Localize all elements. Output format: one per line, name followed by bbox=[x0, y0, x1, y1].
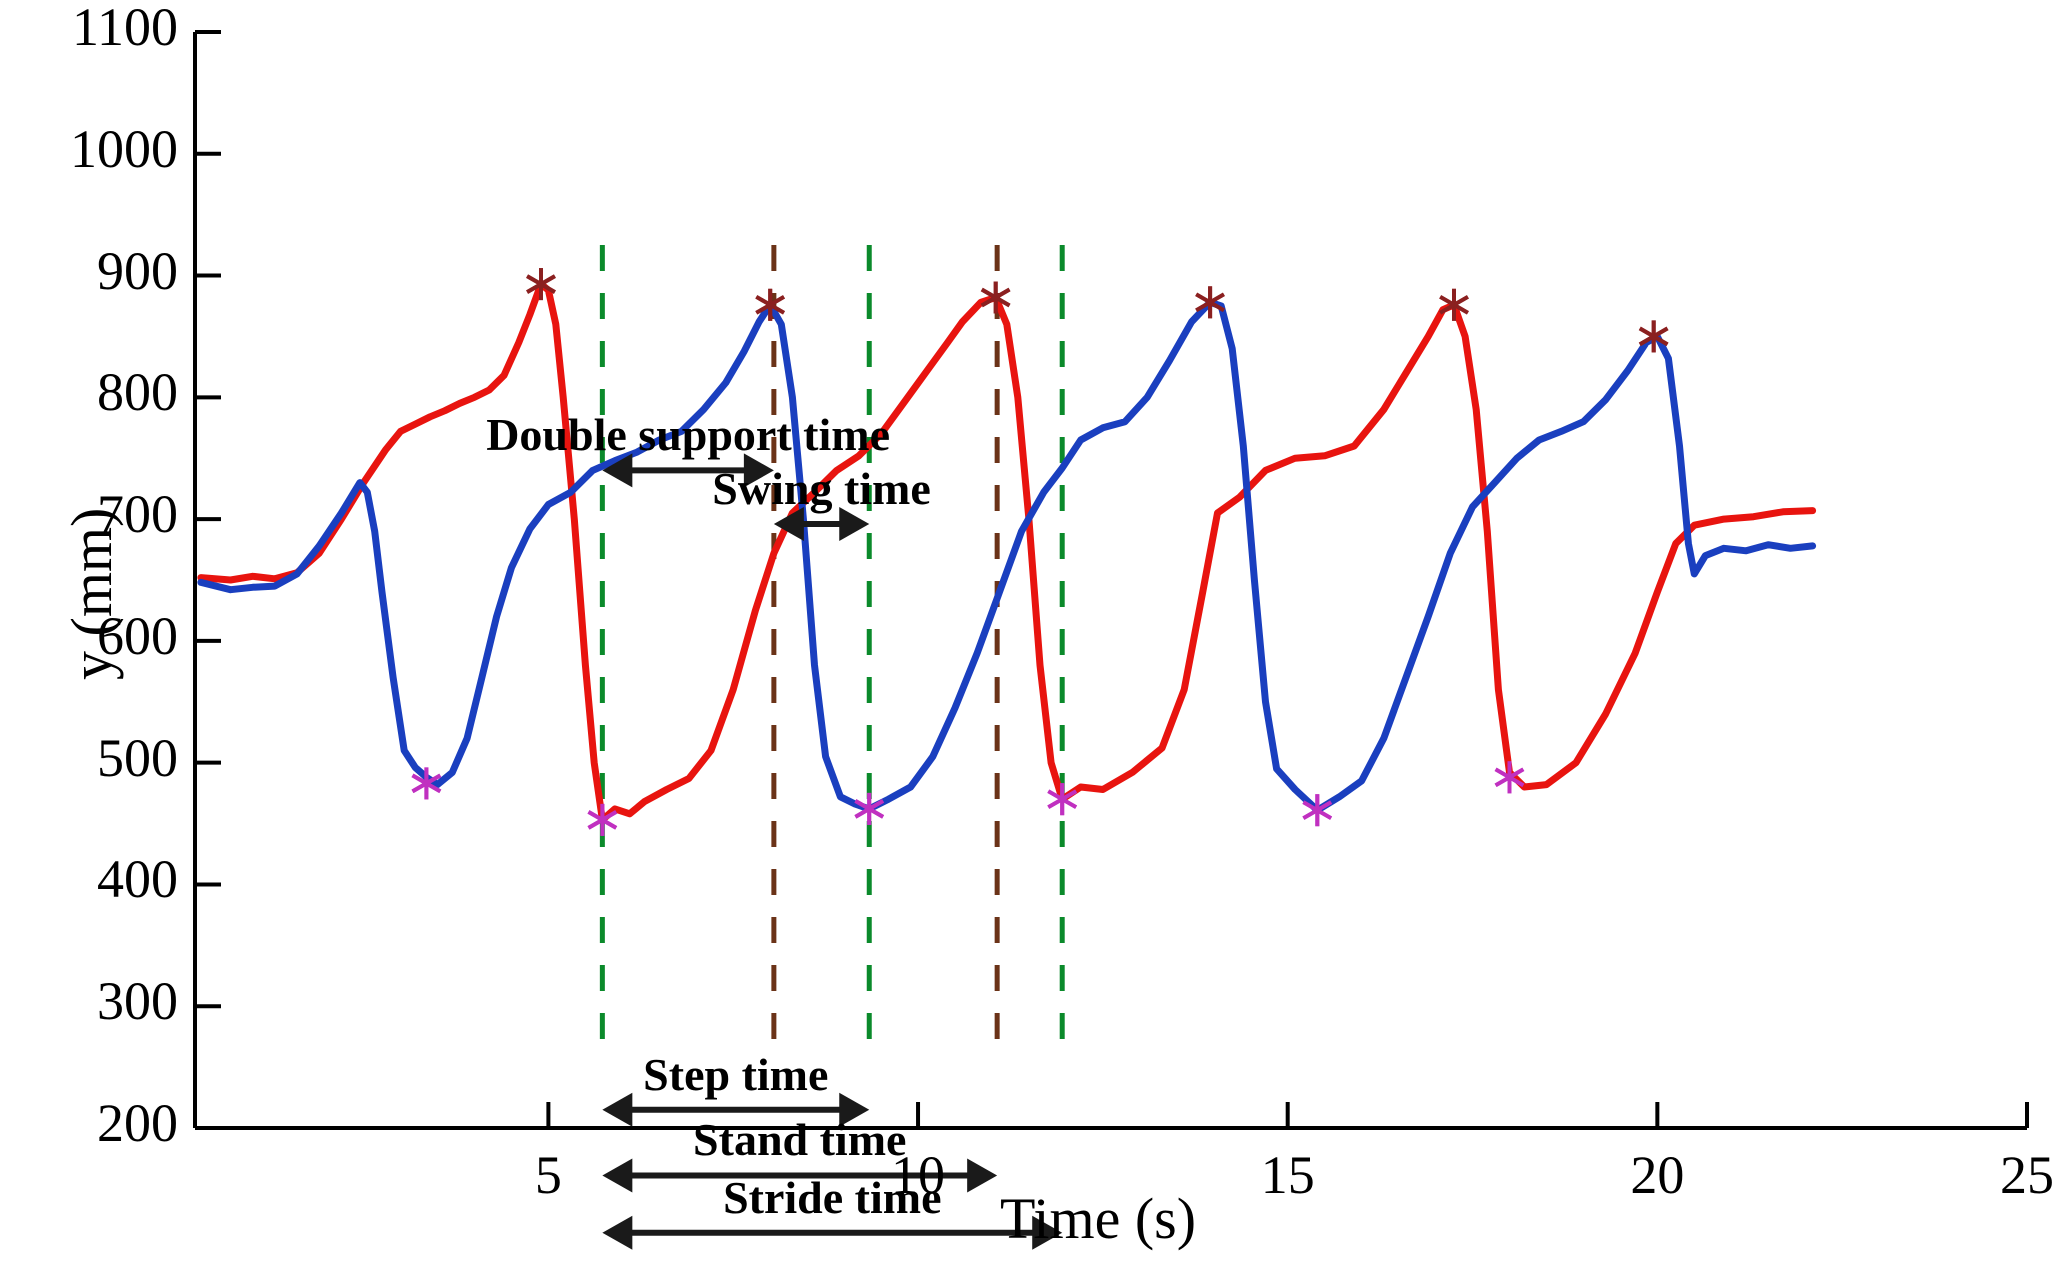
data-series bbox=[201, 284, 1813, 820]
chart-figure: 1100100090080070060050040030020051015202… bbox=[0, 0, 2067, 1270]
y-tick-label: 800 bbox=[0, 361, 178, 423]
x-axis-title: Time (s) bbox=[1000, 1185, 1196, 1252]
x-tick-label: 20 bbox=[1597, 1144, 1717, 1206]
y-tick-label: 1100 bbox=[0, 0, 178, 58]
max-marker bbox=[1440, 289, 1468, 321]
axes bbox=[195, 32, 2027, 1128]
series-left-foot-marker bbox=[201, 302, 1813, 810]
min-marker bbox=[1048, 783, 1076, 815]
annotation-label-step-time: Step time bbox=[436, 1048, 1036, 1101]
y-tick-label: 400 bbox=[0, 848, 178, 910]
x-tick-label: 25 bbox=[1967, 1144, 2067, 1206]
vertical-event-lines bbox=[602, 245, 1062, 1040]
x-tick-label: 15 bbox=[1228, 1144, 1348, 1206]
annotation-label-swing-time: Swing time bbox=[522, 462, 1122, 515]
y-tick-label: 500 bbox=[0, 727, 178, 789]
y-axis-title: y (mm) bbox=[58, 508, 125, 680]
annotation-label-double-support-time: Double support time bbox=[388, 408, 988, 461]
y-tick-label: 1000 bbox=[0, 118, 178, 180]
y-tick-label: 200 bbox=[0, 1092, 178, 1154]
annotation-label-stand-time: Stand time bbox=[500, 1113, 1100, 1166]
series-right-foot-marker bbox=[201, 284, 1813, 820]
y-tick-label: 300 bbox=[0, 970, 178, 1032]
y-tick-label: 900 bbox=[0, 240, 178, 302]
